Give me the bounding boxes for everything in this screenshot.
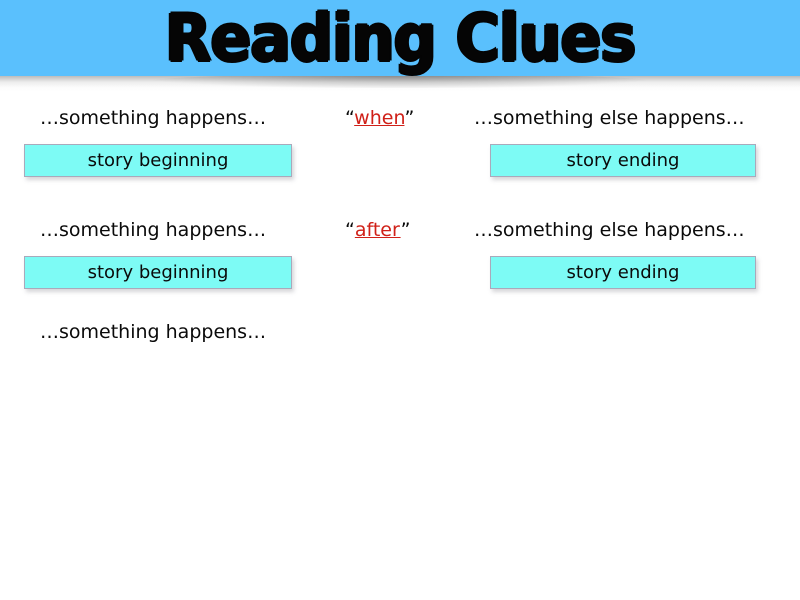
- connector-word: when: [354, 107, 404, 129]
- title-banner: Reading Clues: [0, 0, 800, 76]
- story-beginning-box[interactable]: story beginning: [24, 256, 292, 289]
- story-ending-box[interactable]: story ending: [490, 256, 756, 289]
- story-ending-label: story ending: [567, 263, 680, 283]
- right-phrase: …something else happens…: [474, 106, 745, 130]
- story-beginning-box[interactable]: story beginning: [24, 144, 292, 177]
- story-ending-label: story ending: [567, 151, 680, 171]
- story-beginning-label: story beginning: [88, 151, 229, 171]
- close-quote: ”: [404, 107, 414, 129]
- story-ending-box[interactable]: story ending: [490, 144, 756, 177]
- open-quote: “: [345, 219, 355, 241]
- right-phrase: …something else happens…: [474, 218, 745, 242]
- left-phrase: …something happens…: [40, 218, 266, 242]
- connector-phrase: “when”: [345, 106, 414, 130]
- story-beginning-label: story beginning: [88, 263, 229, 283]
- close-quote: ”: [401, 219, 411, 241]
- banner-drop-shadow: [0, 76, 800, 92]
- left-phrase: …something happens…: [40, 320, 266, 344]
- open-quote: “: [345, 107, 354, 129]
- connector-phrase: “after”: [345, 218, 410, 242]
- left-phrase: …something happens…: [40, 106, 266, 130]
- connector-word: after: [355, 219, 401, 241]
- page-title: Reading Clues: [165, 6, 635, 71]
